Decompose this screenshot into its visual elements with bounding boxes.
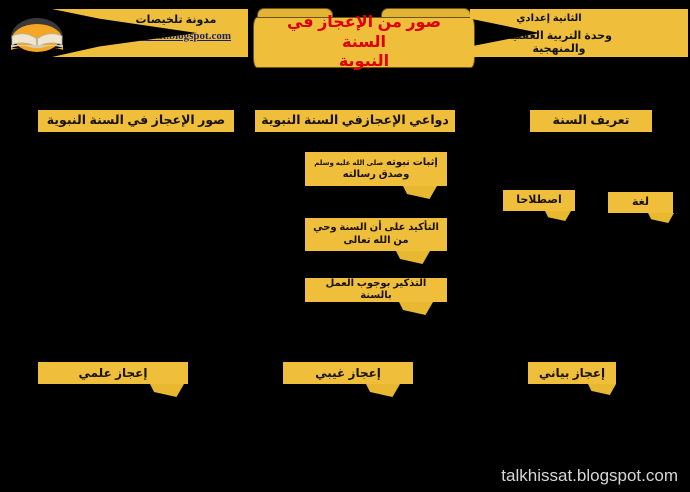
callout-tail	[366, 384, 400, 397]
callout-tail	[396, 251, 430, 264]
class-level-label: الثانية إعدادي	[482, 13, 616, 24]
page-title-line2: النبوية	[339, 53, 389, 70]
page-title-line1: صور من الإعجاز في السنة	[287, 14, 441, 51]
callout-ithbat-rest: وصدق رسالته	[343, 169, 410, 180]
column-heading-suwar-aliajaz[interactable]: صور الإعجاز في السنة النبوية	[38, 110, 234, 132]
callout-ithbat-main: إثبات نبوته	[386, 157, 438, 168]
class-unit-banner: الثانية إعدادي وحدة التربية العقلية والم…	[470, 9, 688, 57]
open-book-icon	[4, 12, 70, 52]
callout-tail	[403, 186, 437, 199]
page-title: صور من الإعجاز في السنة النبوية	[254, 13, 474, 72]
ribbon-body: صور من الإعجاز في السنة النبوية	[253, 17, 475, 68]
callout-taakid-rest: من الله تعالى	[343, 235, 408, 246]
callout-ithbat-honorific: صلى الله عليه وسلم	[314, 160, 383, 167]
blog-url-link[interactable]: talkhissat.blogspot.com	[112, 30, 240, 42]
callout-tail	[648, 213, 674, 223]
poster-title-ribbon: صور من الإعجاز في السنة النبوية	[253, 8, 475, 70]
footer-watermark: talkhissat.blogspot.com	[501, 466, 678, 486]
callout-tail	[545, 211, 571, 221]
callout-tail	[150, 384, 184, 397]
blog-name: مدونة تلخيصات	[112, 13, 240, 26]
column-heading-dawai-aliajaz[interactable]: دواعي الإعجازفي السنة النبوية	[255, 110, 455, 132]
callout-tail	[399, 302, 433, 315]
callout-tadhkir-main: التذكير بوجوب العمل بالسنة	[311, 278, 441, 303]
callout-tail	[588, 384, 616, 395]
column-heading-taarif-assunna[interactable]: تعريف السنة	[530, 110, 652, 132]
blog-banner: مدونة تلخيصات talkhissat.blogspot.com	[52, 9, 248, 57]
callout-taakid-main: التأكيد على أن السنة وحي	[313, 222, 439, 233]
poster-canvas: مدونة تلخيصات talkhissat.blogspot.com صو…	[0, 0, 690, 492]
unit-name-label: وحدة التربية العقلية والمنهجية	[482, 29, 636, 55]
